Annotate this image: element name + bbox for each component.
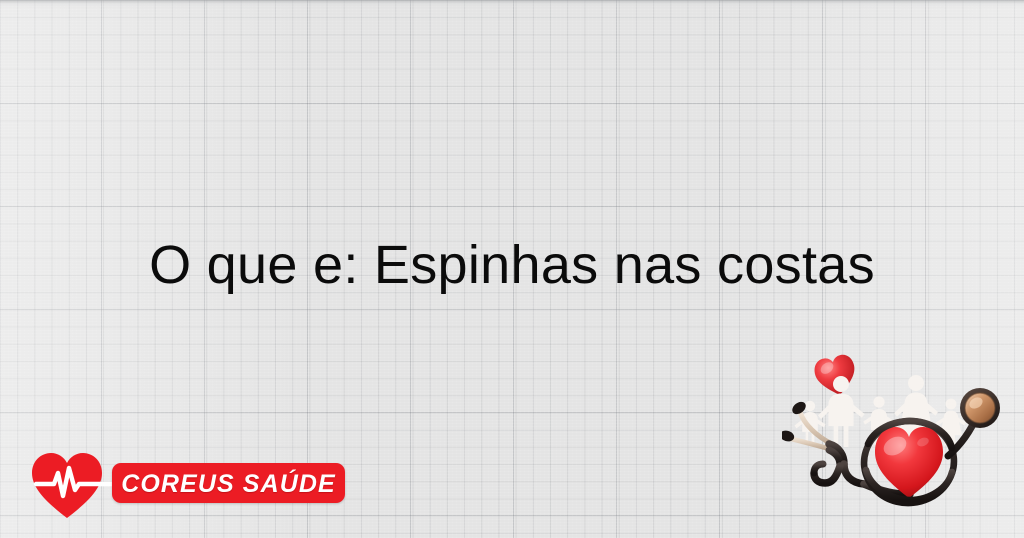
brand-logo[interactable]: COREUS SAÚDE [30, 448, 350, 520]
page-title: O que e: Espinhas nas costas [0, 234, 1024, 296]
large-heart-icon [875, 427, 943, 498]
brand-name-text: COREUS SAÚDE [112, 470, 345, 499]
health-family-stethoscope-illustration [782, 352, 1014, 524]
brand-name-badge: COREUS SAÚDE [112, 463, 345, 503]
stethoscope-chestpiece-icon [960, 388, 1000, 428]
small-heart-icon [812, 353, 859, 399]
title-card-canvas: O que e: Espinhas nas costas COREUS SAÚD… [0, 0, 1024, 538]
